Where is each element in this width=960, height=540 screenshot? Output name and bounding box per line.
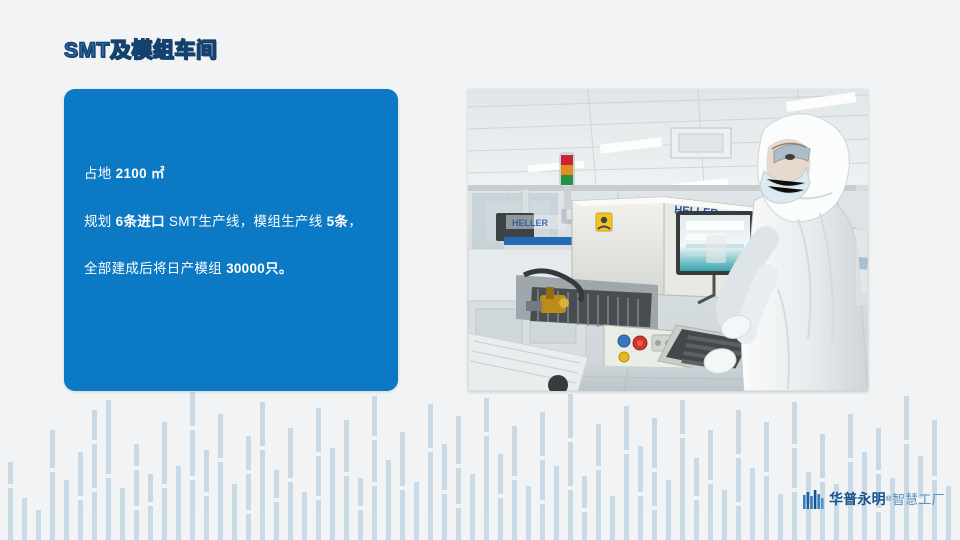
decor-bar bbox=[470, 474, 475, 540]
page-title: SMT及模组车间 bbox=[64, 34, 217, 64]
info-line-lines-prefix: 规划 bbox=[84, 214, 116, 229]
decor-bar-gap bbox=[456, 504, 461, 508]
decor-bar-gap bbox=[218, 458, 223, 462]
slide-canvas: SMT及模组车间 占地 2100 ㎡ 规划 6条进口 SMT生产线，模组生产线 … bbox=[0, 0, 960, 540]
decor-bar bbox=[512, 426, 517, 540]
decor-bar-gap bbox=[92, 440, 97, 444]
decor-bar bbox=[288, 428, 293, 540]
decor-bar-gap bbox=[484, 432, 489, 436]
decor-bar-gap bbox=[736, 502, 741, 506]
decor-bar bbox=[204, 450, 209, 540]
decor-bar-gap bbox=[540, 456, 545, 460]
decor-bar-gap bbox=[638, 492, 643, 496]
decor-bar-gap bbox=[288, 478, 293, 482]
decor-bar bbox=[302, 492, 307, 540]
info-line-area-value: 2100 bbox=[116, 166, 147, 181]
decor-bar bbox=[400, 432, 405, 540]
decor-bar bbox=[260, 402, 265, 540]
decor-bar-gap bbox=[204, 492, 209, 496]
decor-bar-gap bbox=[148, 502, 153, 506]
decor-bar bbox=[190, 392, 195, 540]
decor-bar-gap bbox=[246, 470, 251, 474]
decor-bar bbox=[176, 466, 181, 540]
decor-bar-gap bbox=[932, 476, 937, 480]
decor-bar bbox=[148, 474, 153, 540]
decor-bar-gap bbox=[162, 484, 167, 488]
decor-bar bbox=[848, 414, 853, 540]
decorative-bar-pattern bbox=[0, 392, 960, 540]
decor-bar bbox=[358, 478, 363, 540]
decor-bar bbox=[134, 444, 139, 540]
info-line-area-prefix: 占地 bbox=[84, 166, 116, 181]
brand-logo: 华普永明® 智慧工厂 bbox=[803, 488, 945, 510]
decor-bar bbox=[652, 418, 657, 540]
decor-bar bbox=[596, 424, 601, 540]
info-card-text-block: 占地 2100 ㎡ 规划 6条进口 SMT生产线，模组生产线 5条， 全部建成后… bbox=[84, 167, 386, 276]
decor-bar bbox=[876, 428, 881, 540]
decor-bar bbox=[316, 408, 321, 540]
logo-tagline: 智慧工厂 bbox=[892, 493, 945, 506]
decor-bar-gap bbox=[568, 438, 573, 442]
decor-bar bbox=[106, 400, 111, 540]
decor-bar bbox=[582, 476, 587, 540]
info-line-lines-suffix: ， bbox=[348, 214, 362, 229]
decor-bar-gap bbox=[372, 436, 377, 440]
decor-bar-gap bbox=[904, 440, 909, 444]
decor-bar-gap bbox=[540, 500, 545, 504]
decor-bar bbox=[246, 436, 251, 540]
decor-bar bbox=[92, 410, 97, 540]
decor-bar bbox=[708, 430, 713, 540]
decor-bar-gap bbox=[876, 470, 881, 474]
info-line-output-value: 30000只。 bbox=[226, 261, 293, 276]
decor-bar-gap bbox=[8, 484, 13, 488]
decor-bar-gap bbox=[764, 472, 769, 476]
decor-bar bbox=[722, 490, 727, 540]
decor-bar-gap bbox=[792, 444, 797, 448]
decor-bar-gap bbox=[736, 454, 741, 458]
decor-bar-gap bbox=[358, 506, 363, 510]
info-line-output: 全部建成后将日产模组 30000只。 bbox=[84, 262, 386, 276]
decor-bar bbox=[456, 416, 461, 540]
decor-bar bbox=[750, 468, 755, 540]
decor-bar-gap bbox=[260, 446, 265, 450]
decor-bar bbox=[694, 458, 699, 540]
decor-bar-gap bbox=[400, 486, 405, 490]
decor-bar-gap bbox=[456, 464, 461, 468]
decor-bar bbox=[344, 420, 349, 540]
decor-bar-gap bbox=[596, 466, 601, 470]
decor-bar-gap bbox=[50, 468, 55, 472]
info-line-lines-mid: SMT生产线，模组生产线 bbox=[165, 214, 327, 229]
decor-bar bbox=[78, 452, 83, 540]
decor-bar-gap bbox=[274, 498, 279, 502]
decor-bar bbox=[414, 482, 419, 540]
decor-bar-gap bbox=[78, 496, 83, 500]
decor-bar-gap bbox=[92, 488, 97, 492]
decor-bar bbox=[764, 422, 769, 540]
decor-bar bbox=[498, 454, 503, 540]
decor-bar-gap bbox=[582, 508, 587, 512]
decor-bar bbox=[554, 466, 559, 540]
decor-bar bbox=[638, 446, 643, 540]
decor-bar-gap bbox=[106, 474, 111, 478]
decor-bar bbox=[624, 406, 629, 540]
decor-bar-gap bbox=[792, 488, 797, 492]
decor-bar bbox=[736, 410, 741, 540]
decor-bar bbox=[50, 430, 55, 540]
decor-bar bbox=[568, 394, 573, 540]
decor-bar bbox=[232, 484, 237, 540]
building-bars-logo-icon bbox=[803, 490, 824, 509]
decor-bar bbox=[22, 498, 27, 540]
decor-bar bbox=[610, 496, 615, 540]
decor-bar-gap bbox=[652, 468, 657, 472]
decor-bar bbox=[218, 414, 223, 540]
decor-bar bbox=[274, 470, 279, 540]
decor-bar-gap bbox=[848, 458, 853, 462]
decor-bar bbox=[792, 402, 797, 540]
decor-bar-gap bbox=[442, 490, 447, 494]
decor-bar bbox=[372, 396, 377, 540]
info-line-lines-value2: 5条 bbox=[327, 214, 349, 229]
decor-bar bbox=[8, 462, 13, 540]
decor-bar-gap bbox=[344, 472, 349, 476]
decor-bar-gap bbox=[134, 506, 139, 510]
decor-bar bbox=[540, 412, 545, 540]
decor-bar bbox=[442, 444, 447, 540]
decor-bar-gap bbox=[512, 476, 517, 480]
decor-bar bbox=[820, 434, 825, 540]
decor-bar bbox=[64, 480, 69, 540]
decor-bar-gap bbox=[372, 482, 377, 486]
decor-bar bbox=[386, 460, 391, 540]
decor-bar-gap bbox=[428, 448, 433, 452]
decor-bar-gap bbox=[316, 452, 321, 456]
decor-bar-gap bbox=[316, 496, 321, 500]
decor-bar-gap bbox=[134, 466, 139, 470]
decor-bar-gap bbox=[498, 494, 503, 498]
decor-bar bbox=[162, 422, 167, 540]
info-card: 占地 2100 ㎡ 规划 6条进口 SMT生产线，模组生产线 5条， 全部建成后… bbox=[64, 89, 398, 391]
decor-bar bbox=[330, 448, 335, 540]
decor-bar-gap bbox=[246, 510, 251, 514]
decor-bar-gap bbox=[190, 476, 195, 480]
decor-bar bbox=[484, 398, 489, 540]
decor-bar-gap bbox=[624, 450, 629, 454]
info-line-lines: 规划 6条进口 SMT生产线，模组生产线 5条， bbox=[84, 215, 386, 229]
cleanroom-photo: HELLER bbox=[468, 89, 868, 391]
decor-bar bbox=[904, 396, 909, 540]
logo-company-name: 华普永明 bbox=[829, 492, 886, 506]
decor-bar-gap bbox=[694, 496, 699, 500]
decor-bar bbox=[666, 480, 671, 540]
decor-bar bbox=[778, 494, 783, 540]
info-line-lines-value1: 6条进口 bbox=[116, 214, 165, 229]
decor-bar-gap bbox=[190, 426, 195, 430]
decor-bar-gap bbox=[568, 486, 573, 490]
info-line-area: 占地 2100 ㎡ bbox=[84, 167, 386, 181]
decor-bar bbox=[946, 486, 951, 540]
decor-bar bbox=[428, 404, 433, 540]
info-line-output-prefix: 全部建成后将日产模组 bbox=[84, 261, 226, 276]
decor-bar bbox=[932, 420, 937, 540]
decor-bar-gap bbox=[708, 480, 713, 484]
info-line-area-unit: ㎡ bbox=[147, 166, 165, 181]
decor-bar-gap bbox=[680, 434, 685, 438]
decor-bar-gap bbox=[652, 506, 657, 510]
logo-registered-mark: ® bbox=[886, 496, 891, 503]
decor-bar bbox=[36, 510, 41, 540]
decor-bar-gap bbox=[820, 478, 825, 482]
decor-bar bbox=[120, 488, 125, 540]
cleanroom-photo-illustration: HELLER bbox=[468, 89, 868, 391]
decor-bar bbox=[526, 486, 531, 540]
decor-bar bbox=[680, 400, 685, 540]
